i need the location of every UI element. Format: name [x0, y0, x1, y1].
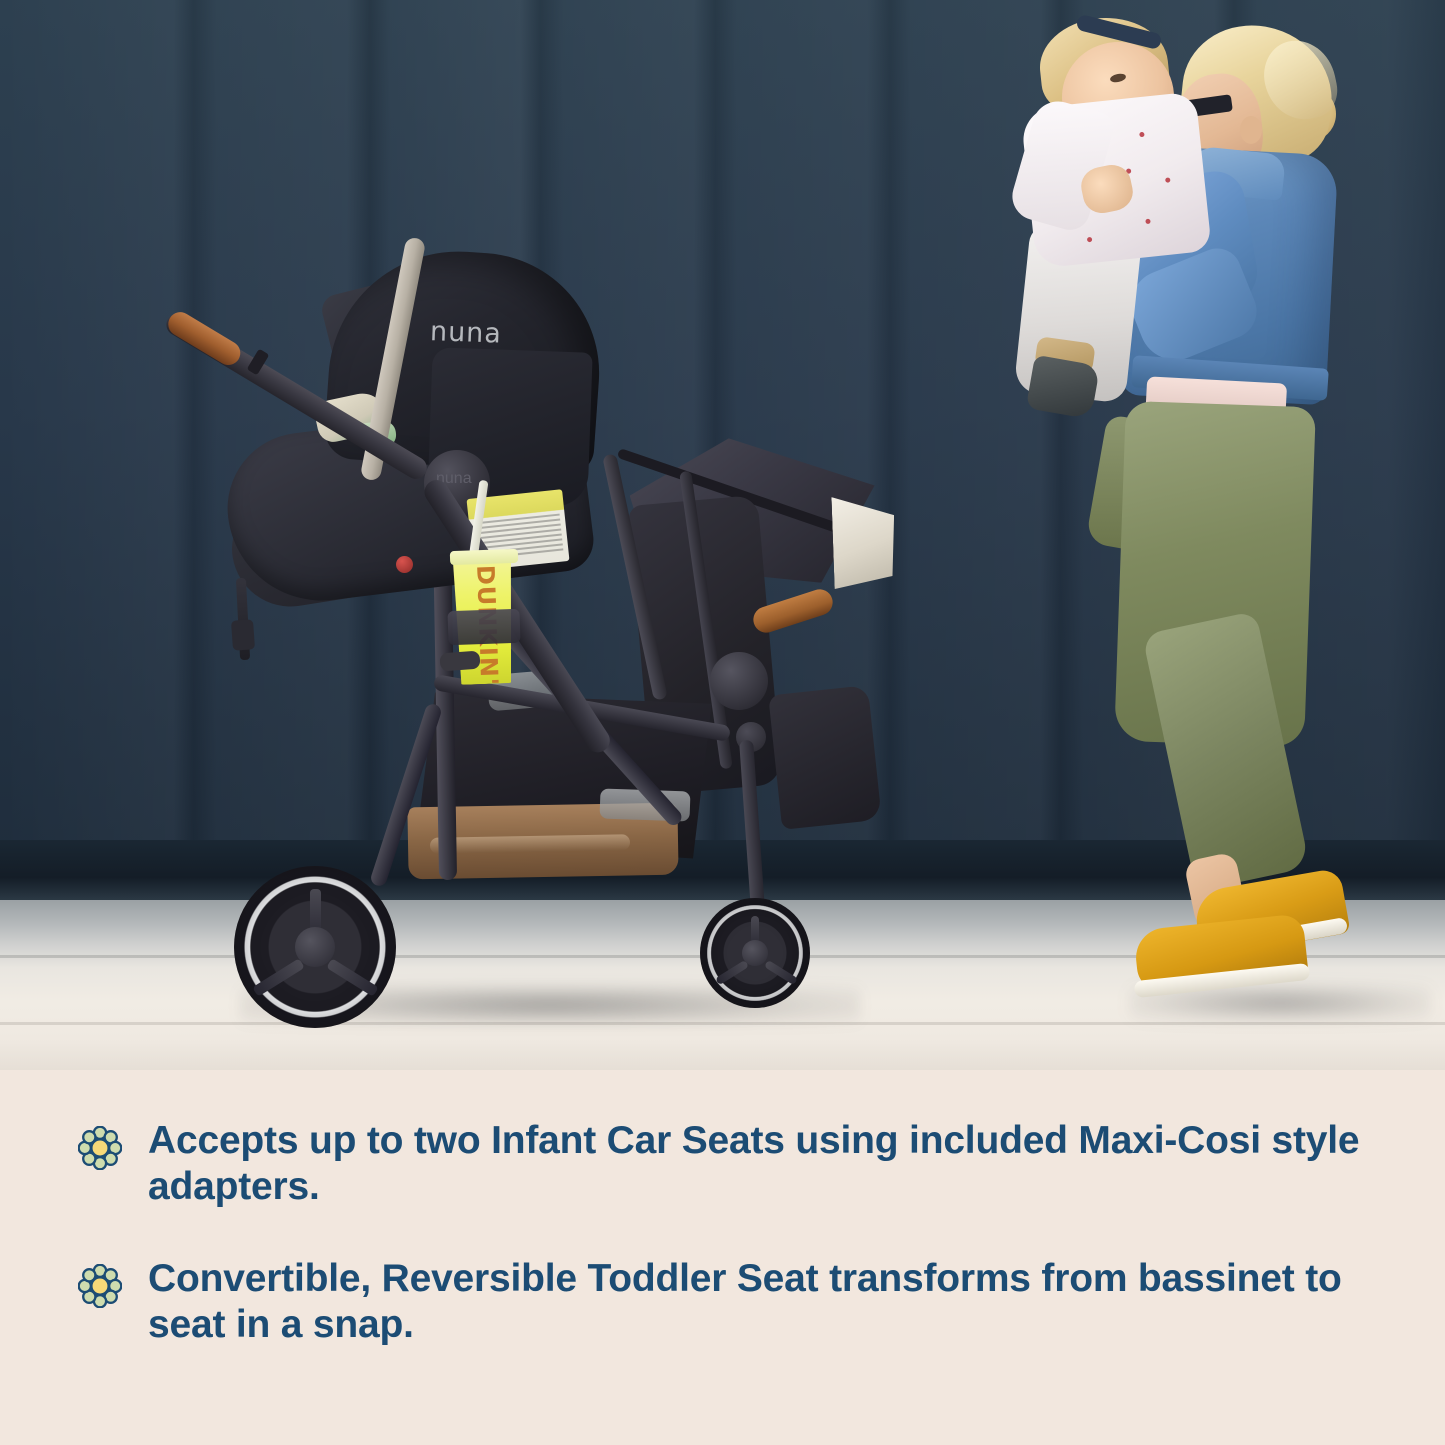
feature-item: Accepts up to two Infant Car Seats using… — [78, 1118, 1373, 1210]
feature-text: Accepts up to two Infant Car Seats using… — [148, 1118, 1373, 1210]
wheel-spoke — [714, 960, 748, 985]
feature-item: Convertible, Reversible Toddler Seat tra… — [78, 1256, 1373, 1348]
toddler-canopy-visor — [831, 495, 896, 589]
front-wheel — [234, 866, 396, 1028]
stroller: nuna nuna DUNKIN' — [0, 0, 900, 1070]
leather-handle-grip — [164, 308, 245, 370]
feature-list: Accepts up to two Infant Car Seats using… — [0, 1070, 1445, 1445]
wheel-spoke — [327, 959, 380, 998]
wheel-spoke — [252, 959, 305, 998]
product-feature-page: nuna nuna DUNKIN' — [0, 0, 1445, 1445]
woman-ear — [1240, 116, 1262, 144]
nuna-logo: nuna — [430, 316, 541, 350]
wheel-spoke — [764, 960, 798, 985]
flower-bullet-icon — [78, 1126, 122, 1170]
toddler-footrest — [768, 685, 882, 830]
feature-text: Convertible, Reversible Toddler Seat tra… — [148, 1256, 1373, 1348]
cup-lid — [450, 549, 518, 565]
flower-bullet-icon — [78, 1264, 122, 1308]
cup-holder — [447, 609, 520, 645]
red-indicator-sticker — [396, 556, 413, 573]
wheel-hub — [742, 940, 768, 966]
woman-holding-baby — [1000, 0, 1445, 1070]
product-hero-photo: nuna nuna DUNKIN' — [0, 0, 1445, 1070]
rear-wheel — [700, 898, 810, 1008]
car-seat-strap-end — [231, 619, 255, 650]
wheel-hub — [295, 927, 335, 967]
toddler-seat-pivot-hub — [710, 652, 768, 710]
cup-holder-arm — [439, 651, 480, 672]
